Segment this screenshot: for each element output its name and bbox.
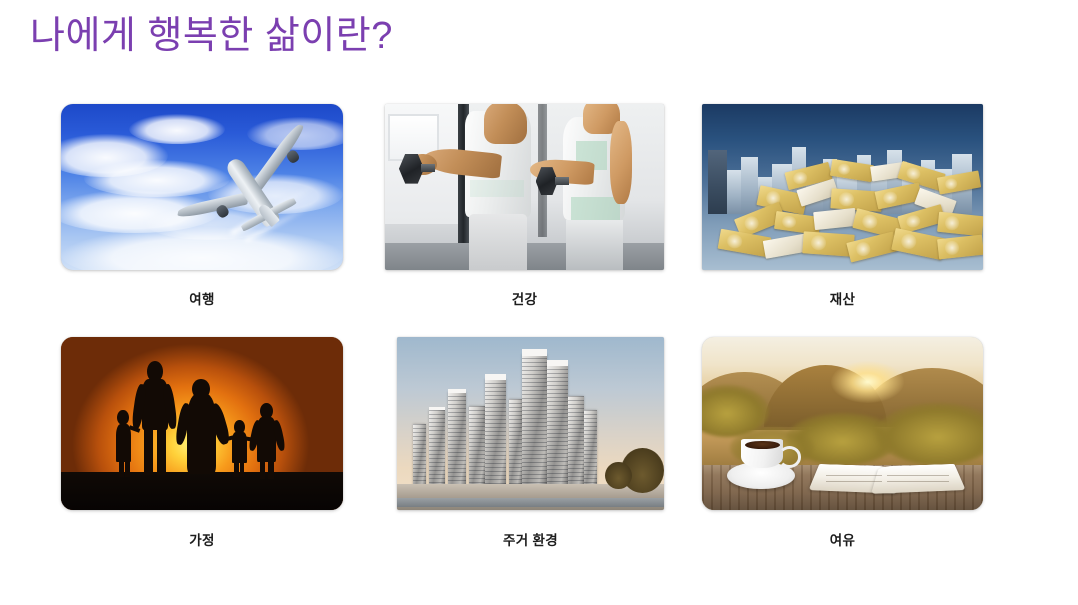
slide-canvas: 나에게 행복한 삶이란? (0, 0, 1078, 605)
card-caption-travel: 여행 (61, 288, 343, 308)
card-housing[interactable]: 주거 환경 (397, 337, 664, 510)
person-female (558, 104, 642, 270)
card-caption-leisure: 여유 (702, 529, 983, 549)
travel-scene (61, 104, 343, 270)
card-family[interactable]: 가정 (61, 337, 343, 510)
family-scene (61, 337, 343, 510)
wealth-scene (702, 104, 983, 270)
page-title: 나에게 행복한 삶이란? (30, 14, 393, 60)
card-wealth-image[interactable] (702, 104, 983, 270)
health-scene (385, 104, 664, 270)
card-caption-health: 건강 (385, 288, 664, 308)
card-caption-family: 가정 (61, 529, 343, 549)
card-family-image[interactable] (61, 337, 343, 510)
card-health-image[interactable] (385, 104, 664, 270)
person-male (460, 104, 544, 270)
card-caption-housing: 주거 환경 (397, 529, 664, 549)
card-leisure-image[interactable] (702, 337, 983, 510)
image-grid-row-1: 여행 (0, 104, 1078, 329)
card-travel-image[interactable] (61, 104, 343, 270)
card-health[interactable]: 건강 (385, 104, 664, 270)
leisure-scene (702, 337, 983, 510)
card-housing-image[interactable] (397, 337, 664, 510)
card-leisure[interactable]: 여유 (702, 337, 983, 510)
image-grid: 여행 (0, 104, 1078, 554)
sun-icon (831, 361, 904, 403)
card-wealth[interactable]: 재산 (702, 104, 983, 270)
housing-scene (397, 337, 664, 510)
card-caption-wealth: 재산 (702, 288, 983, 308)
card-travel[interactable]: 여행 (61, 104, 343, 270)
image-grid-row-2: 가정 (0, 329, 1078, 554)
